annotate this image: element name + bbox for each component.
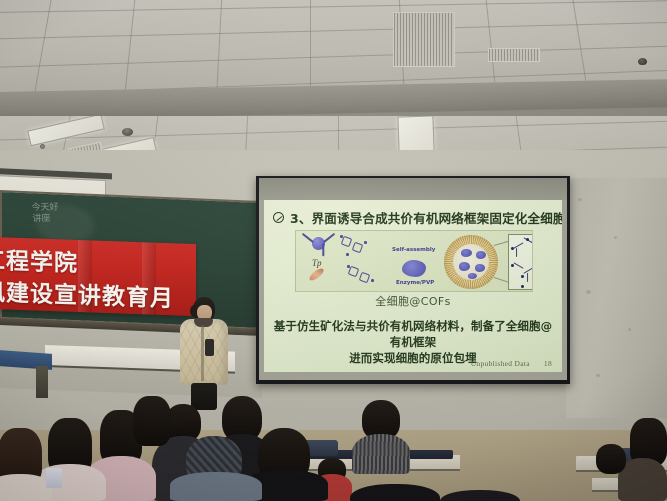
red-banner: 工程学院 风建设宣讲教育月 [0,237,196,316]
audience-head [133,396,171,446]
slide-figure: Tp Self-assembly Enzyme/PVP [295,230,533,292]
air-vent-icon [393,12,455,67]
cof-lattice-diagram [508,234,533,290]
slide-title: 3、界面诱导合成共价有机网络框架固定化全细胞 [290,208,562,227]
audience-head [596,444,626,474]
footer-note: Unpublished Data [471,359,530,368]
rod-particle-icon [308,267,326,283]
chalk-writing: 今天好 讲座 [31,202,59,225]
slide-body-line-1: 基于仿生矿化法与共价有机网络材料，制备了全细胞@有机框架 [270,318,556,350]
presenter-jacket-placket [201,325,204,381]
audience-shoulders [170,472,262,501]
tp-label: Tp [312,258,322,268]
circled-slash-icon [273,212,284,223]
screen-top-band [259,178,567,200]
audience-shoulders [0,474,52,501]
banner-line-1: 工程学院 [0,241,78,278]
self-assembly-label: Self-assembly [392,247,435,253]
presenter-badge [205,339,214,356]
projection-screen: 3、界面诱导合成共价有机网络框架固定化全细胞 Tp [256,176,570,384]
right-wall [566,178,667,418]
ceiling-light-panel [397,116,434,153]
enzyme-blob-icon [402,260,426,277]
presentation-slide: 3、界面诱导合成共价有机网络框架固定化全细胞 Tp [264,200,562,372]
banner-line-2: 风建设宣讲教育月 [0,273,174,314]
slide-footer: Unpublished Data 18 [471,359,552,368]
security-camera-icon [638,58,647,65]
ceiling-light-panel [27,116,105,146]
podium-stand [36,366,48,398]
sprinkler-icon [40,144,45,149]
screen-surface: 3、界面诱导合成共价有机网络框架固定化全细胞 Tp [259,178,567,380]
presenter-legs [191,383,217,410]
figure-caption: 全细胞@COFs [264,293,562,309]
air-vent-icon [488,48,540,62]
slide-title-row: 3、界面诱导合成共价有机网络框架固定化全细胞 [273,208,554,227]
lecture-hall-scene: 今天好 讲座 工程学院 风建设宣讲教育月 3、界面诱导合成共价有机网络框架固定化… [0,0,667,501]
presenter [176,297,230,410]
ceiling-speaker-icon [122,128,133,136]
enzyme-pvp-label: Enzyme/PVP [396,280,434,286]
audience-shoulders [352,434,410,474]
page-number: 18 [544,359,552,368]
presenter-jacket-quilting [180,319,228,385]
desk-item [46,468,62,488]
